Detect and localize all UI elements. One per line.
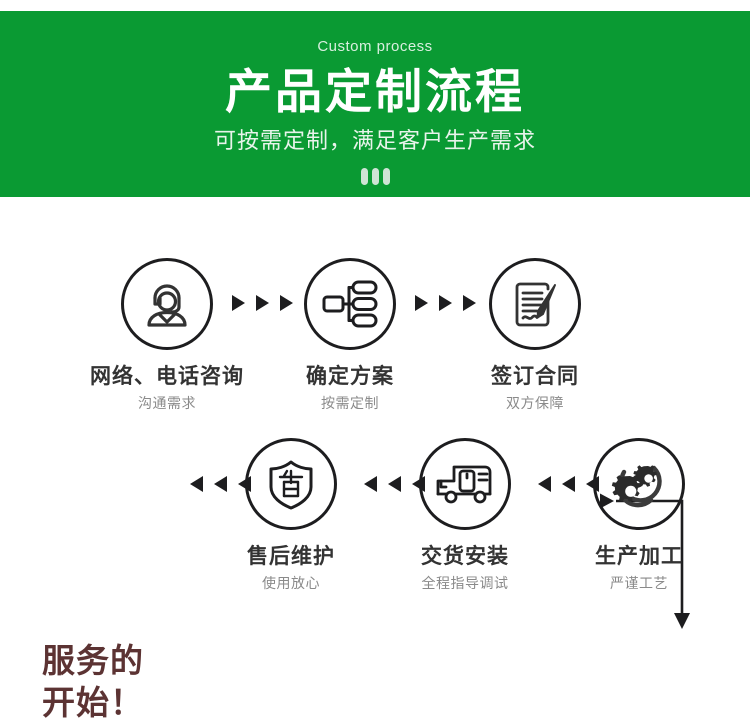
- step-title: 确定方案: [265, 350, 435, 388]
- flow-step-consultation[interactable]: 网络、电话咨询 沟通需求: [82, 258, 252, 411]
- divider-dot: [383, 168, 390, 185]
- step-title: 交货安装: [380, 530, 550, 568]
- step-title: 售后维护: [206, 530, 376, 568]
- chevron-right-icon: [232, 295, 245, 311]
- flow-step-contract[interactable]: 签订合同 双方保障: [450, 258, 620, 411]
- process-flow-diagram: 网络、电话咨询 沟通需求 确定方案 按需定制: [0, 197, 750, 634]
- chevron-right-icon: [415, 295, 428, 311]
- flow-step-delivery[interactable]: 交货安装 全程指导调试: [380, 438, 550, 591]
- chevron-left-icon: [364, 476, 377, 492]
- service-start-line1: 服务的: [42, 640, 192, 682]
- flow-step-plan[interactable]: 确定方案 按需定制: [265, 258, 435, 411]
- step-subtitle: 全程指导调试: [380, 568, 550, 591]
- divider-dot: [361, 168, 368, 185]
- plan-flowchart-icon: [304, 258, 396, 350]
- chevron-left-icon: [190, 476, 203, 492]
- banner-divider-dots: [356, 154, 394, 185]
- customer-support-person-icon: [121, 258, 213, 350]
- service-start-line2: 开始！: [42, 682, 192, 724]
- step-subtitle: 沟通需求: [82, 388, 252, 411]
- chevron-left-icon: [538, 476, 551, 492]
- step-title: 网络、电话咨询: [82, 350, 252, 388]
- divider-dot: [372, 168, 379, 185]
- page-title: 产品定制流程: [0, 54, 750, 119]
- contract-signing-icon: [489, 258, 581, 350]
- delivery-truck-icon: [419, 438, 511, 530]
- step-subtitle: 使用放心: [206, 568, 376, 591]
- banner-subtitle: 可按需定制，满足客户生产需求: [0, 119, 750, 154]
- banner-eyebrow: Custom process: [0, 11, 750, 54]
- step-subtitle: 按需定制: [265, 388, 435, 411]
- flow-step-production[interactable]: 生产加工 严谨工艺: [554, 438, 724, 591]
- step-title: 签订合同: [450, 350, 620, 388]
- step-subtitle: 严谨工艺: [554, 568, 724, 591]
- step-title: 生产加工: [554, 530, 724, 568]
- page-banner: Custom process 产品定制流程 可按需定制，满足客户生产需求: [0, 11, 750, 197]
- flow-step-after-sales[interactable]: 售后维护 使用放心: [206, 438, 376, 591]
- service-start-headline: 服务的 开始！: [42, 640, 192, 724]
- after-sales-shield-icon: [245, 438, 337, 530]
- gears-production-icon: [593, 438, 685, 530]
- step-subtitle: 双方保障: [450, 388, 620, 411]
